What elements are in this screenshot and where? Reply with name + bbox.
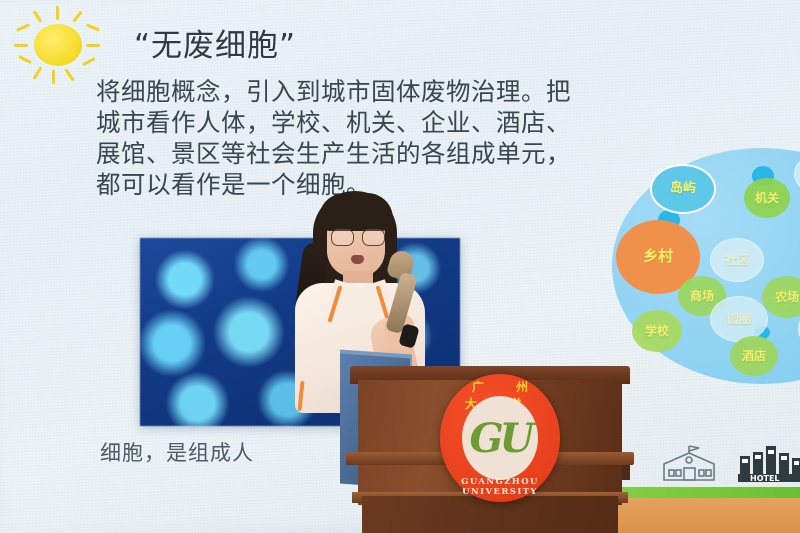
hair-fringe — [319, 193, 393, 231]
bubble-green: 酒店 — [730, 336, 778, 376]
bubble-pale: 园圈 — [710, 296, 768, 342]
school-building-icon — [658, 444, 720, 484]
city-cells-diagram: 岛屿机关医院乡村社区农市商场农场园圈学校展馆酒店工地 — [612, 148, 800, 384]
university-logo-inner-disc: GU — [462, 396, 538, 480]
hotel-icon: HOTEL — [736, 442, 800, 484]
university-logo-en-text: GUANGZHOU UNIVERSITY — [440, 477, 560, 497]
lectern-base — [362, 496, 618, 533]
slide-body: 将细胞概念，引入到城市固体废物治理。把 城市看作人体，学校、机关、企业、酒店、 … — [96, 76, 656, 200]
lectern: 广 州 大 学 GU GUANGZHOU UNIVERSITY — [340, 366, 640, 533]
sun-body — [34, 24, 82, 66]
sun-doodle-icon — [12, 6, 98, 84]
hotel-label: HOTEL — [750, 474, 780, 483]
bubble-green: 机关 — [744, 178, 790, 218]
slide-body-line: 城市看作人体，学校、机关、企业、酒店、 — [96, 107, 656, 138]
slide-caption: 细胞，是组成人 — [100, 437, 254, 467]
mouth — [351, 255, 364, 264]
presentation-scene: “无废细胞” 将细胞概念，引入到城市固体废物治理。把 城市看作人体，学校、机关、… — [0, 0, 800, 533]
slide-title: “无废细胞” — [134, 20, 296, 65]
glasses-icon — [331, 229, 383, 244]
bubble-pale: 社区 — [710, 238, 764, 282]
bubble-cyan: 岛屿 — [650, 164, 716, 214]
university-logo: 广 州 大 学 GU GUANGZHOU UNIVERSITY — [440, 374, 560, 502]
slide-body-line: 展馆、景区等社会生产生活的各组成单元， — [96, 138, 656, 169]
bubble-green: 学校 — [632, 310, 682, 352]
slide-body-line: 将细胞概念，引入到城市固体废物治理。把 — [96, 76, 656, 107]
university-logo-monogram: GU — [462, 396, 538, 480]
